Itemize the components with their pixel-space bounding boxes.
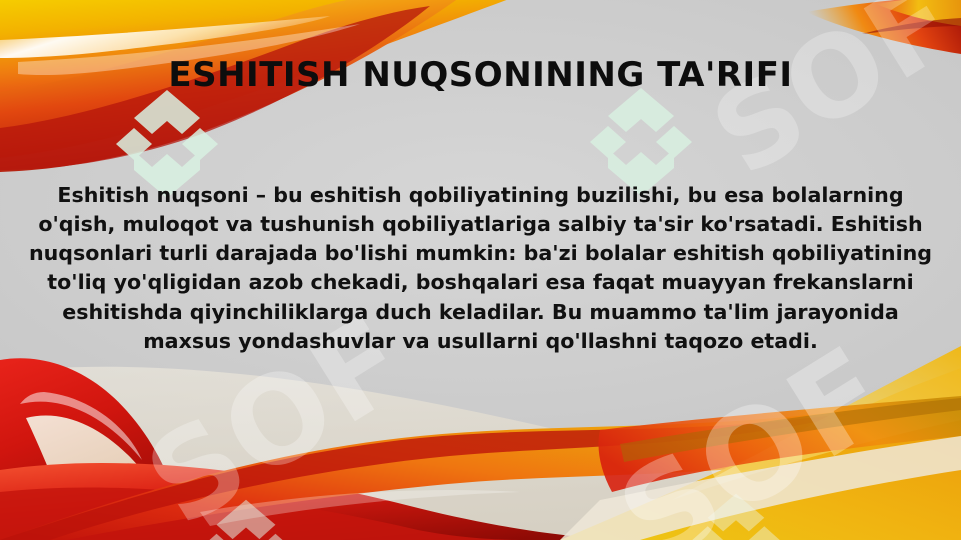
- page-title: ESHITISH NUQSONINING TA'RIFI: [71, 55, 891, 96]
- slide: SOFT SOF SOF ESHITISH NUQSONINING TA'RIF…: [0, 0, 961, 540]
- body-paragraph: Eshitish nuqsoni – bu eshitish qobiliyat…: [27, 181, 935, 356]
- slide-content: ESHITISH NUQSONINING TA'RIFI Eshitish nu…: [0, 0, 961, 540]
